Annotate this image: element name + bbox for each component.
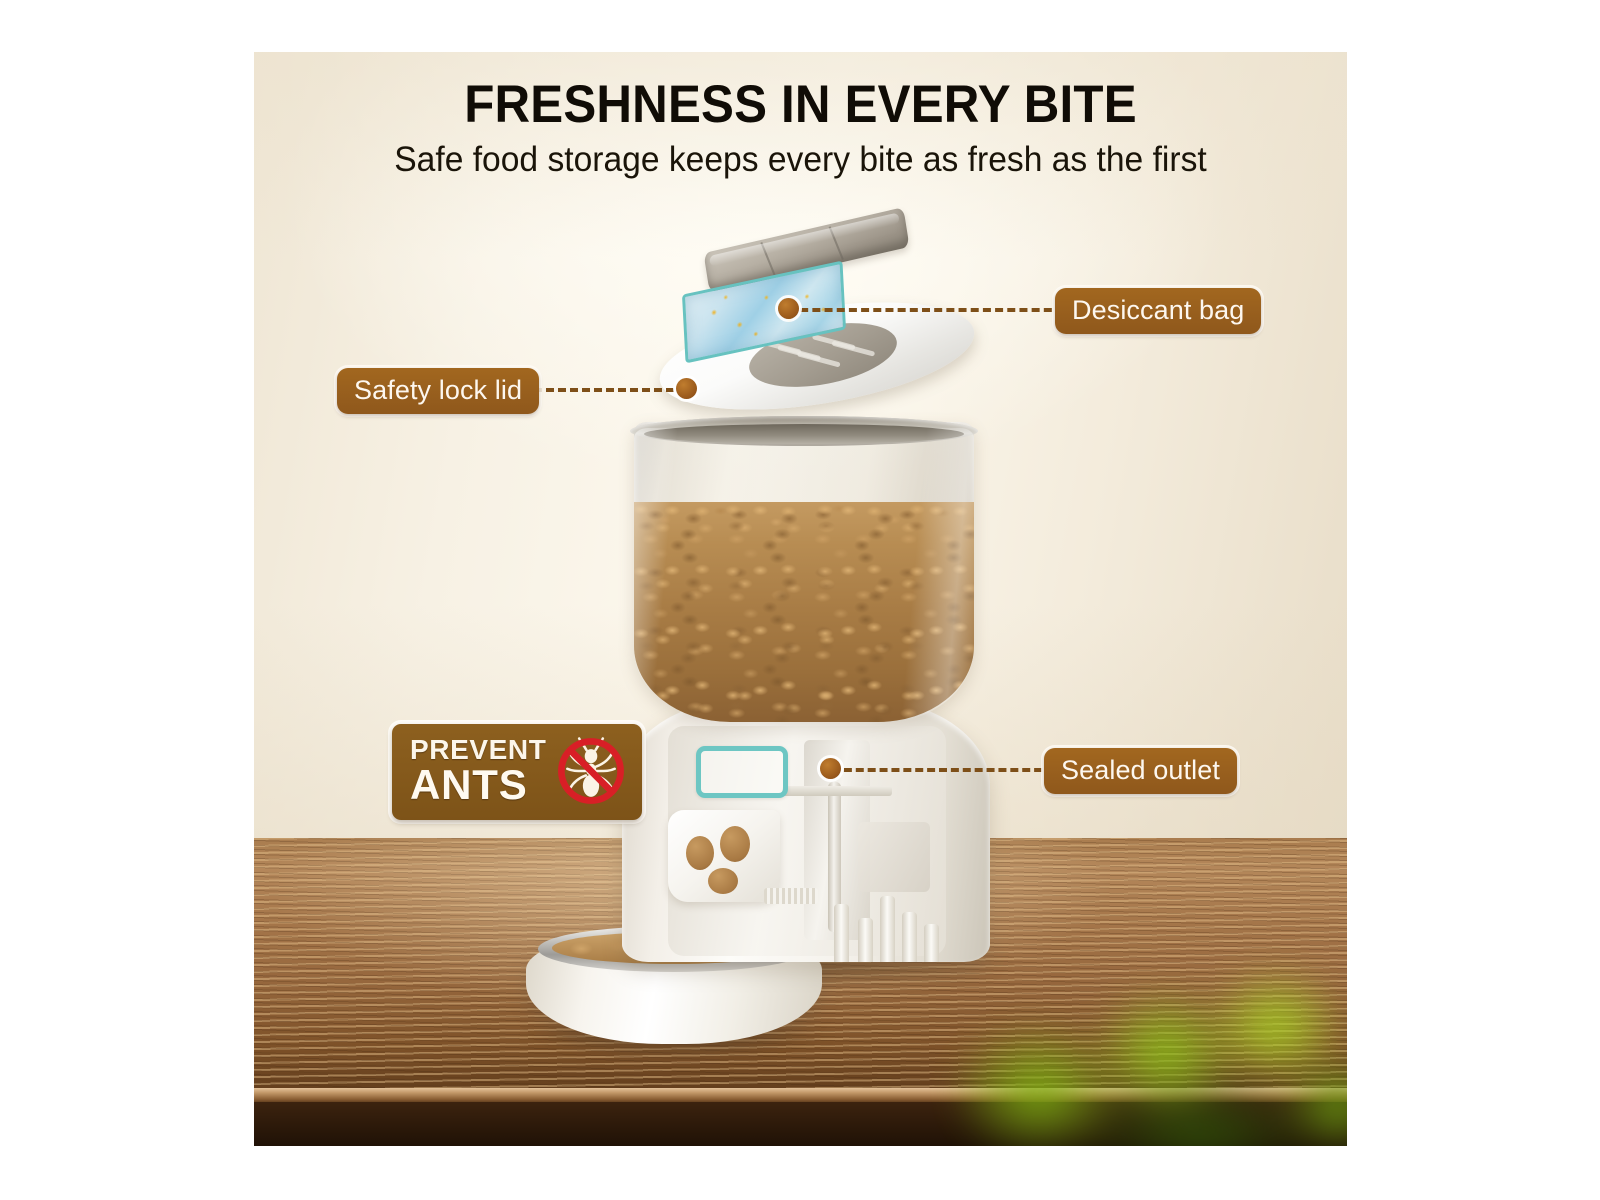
lid-assembly [652, 230, 982, 415]
flap-kibble-1 [686, 836, 714, 870]
anchor-dot-safety-lock [676, 378, 697, 399]
leader-line-desiccant [788, 308, 1064, 312]
screenshot-root: FRESHNESS IN EVERY BITE Safe food storag… [0, 0, 1600, 1200]
support-post-3 [880, 896, 895, 962]
flap-kibble-2 [720, 826, 750, 862]
callout-safety-lock-lid[interactable]: Safety lock lid [337, 368, 539, 414]
outlet-flap-door [668, 810, 780, 902]
kibble-texture [634, 502, 974, 722]
foreground-foliage [947, 926, 1347, 1146]
kibble-fill [634, 502, 974, 722]
callout-sealed-outlet-label: Sealed outlet [1061, 755, 1220, 785]
support-post-2 [858, 918, 873, 962]
motor-housing [858, 822, 930, 892]
flap-kibble-3 [708, 868, 738, 894]
support-post-5 [924, 924, 939, 962]
food-hopper [634, 422, 974, 722]
prevent-ants-badge: PREVENT ANTS [392, 724, 642, 820]
prevent-ants-line1: PREVENT [410, 737, 546, 764]
hopper-rim-inner [644, 424, 964, 444]
no-ant-icon [554, 734, 628, 808]
callout-sealed-outlet[interactable]: Sealed outlet [1044, 748, 1237, 794]
page-title: FRESHNESS IN EVERY BITE [292, 74, 1308, 135]
leader-line-sealed-outlet [832, 768, 1054, 772]
support-post-4 [902, 912, 917, 962]
anchor-dot-sealed-outlet [820, 758, 841, 779]
sealed-outlet-highlight [696, 746, 788, 798]
dispense-shelf-plate [782, 786, 892, 796]
callout-safety-lock-lid-label: Safety lock lid [354, 375, 522, 405]
support-post-1 [834, 904, 849, 962]
dispenser-base [622, 700, 990, 962]
gear-teeth [764, 888, 818, 904]
page-subtitle: Safe food storage keeps every bite as fr… [276, 140, 1325, 180]
prevent-ants-line2: ANTS [410, 765, 546, 805]
callout-desiccant-bag[interactable]: Desiccant bag [1055, 288, 1261, 334]
product-infographic-image: FRESHNESS IN EVERY BITE Safe food storag… [254, 52, 1347, 1146]
callout-desiccant-bag-label: Desiccant bag [1072, 295, 1244, 325]
prevent-ants-text: PREVENT ANTS [410, 737, 546, 805]
anchor-dot-desiccant [778, 298, 799, 319]
